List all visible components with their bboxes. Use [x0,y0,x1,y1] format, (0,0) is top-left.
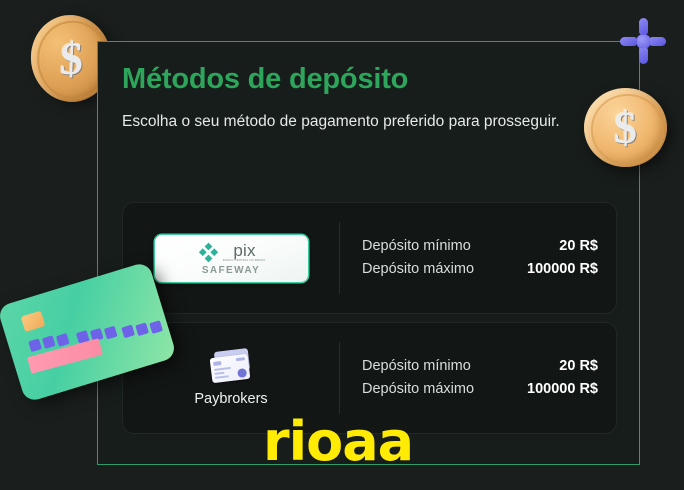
page-subtitle: Escolha o seu método de pagamento prefer… [122,110,572,134]
sparkle-core [637,35,650,48]
pix-safeway-subtitle: SAFEWAY [202,265,260,276]
minimum-deposit-label: Depósito mínimo [362,235,471,258]
card-chip-icon [21,311,46,332]
deposit-methods-list: pix BANCO CENTRAL DO BRASIL SAFEWAY Depó… [122,202,617,442]
maximum-deposit-row: Depósito máximo 100000 R$ [362,378,598,401]
card-chip [213,361,221,366]
maximum-deposit-value: 100000 R$ [527,258,598,281]
pix-safeway-logo[interactable]: pix BANCO CENTRAL DO BRASIL SAFEWAY [155,235,308,282]
page-title: Métodos de depósito [122,64,615,96]
method-limits: Depósito mínimo 20 R$ Depósito máximo 10… [340,355,616,402]
purple-sparkle-icon [619,17,667,65]
sparkle-arm-left [620,37,638,46]
card-digit-block [42,335,56,349]
minimum-deposit-row: Depósito mínimo 20 R$ [362,235,598,258]
sparkle-arm-top [639,18,648,36]
credit-card-icon[interactable] [209,350,253,384]
sparkle-arm-right [648,37,666,46]
minimum-deposit-value: 20 R$ [559,235,598,258]
minimum-deposit-value: 20 R$ [559,355,598,378]
card-front-layer [210,353,251,382]
maximum-deposit-label: Depósito máximo [362,258,474,281]
card-line [214,366,231,370]
maximum-deposit-row: Depósito máximo 100000 R$ [362,258,598,281]
card-number-mark [236,357,245,361]
watermark-text: rioaa [263,415,413,469]
gold-coin-right: $ [584,88,667,167]
method-limits: Depósito mínimo 20 R$ Depósito máximo 10… [340,235,616,282]
pix-wordmark: pix BANCO CENTRAL DO BRASIL [224,242,265,263]
method-logo-cell: pix BANCO CENTRAL DO BRASIL SAFEWAY [123,235,339,282]
card-digit-block [28,338,42,352]
deposit-methods-panel: Métodos de depósito Escolha o seu método… [97,41,640,465]
card-digit-block [135,322,149,336]
maximum-deposit-value: 100000 R$ [527,378,598,401]
maximum-deposit-label: Depósito máximo [362,378,474,401]
card-logo-dot [237,368,247,378]
card-digit-block [149,320,163,334]
method-name-label: Paybrokers [194,391,267,407]
card-digit-block [121,325,135,339]
pix-diamond-icon [197,241,220,264]
minimum-deposit-label: Depósito mínimo [362,355,471,378]
pix-brand-tagline: BANCO CENTRAL DO BRASIL [223,260,266,263]
dollar-sign-icon: $ [59,35,84,82]
minimum-deposit-row: Depósito mínimo 20 R$ [362,355,598,378]
dollar-sign-icon: $ [614,105,637,151]
pix-brand-word: pix [233,242,255,259]
card-line [215,375,229,378]
pix-logo-row: pix BANCO CENTRAL DO BRASIL [197,241,265,264]
card-digit-block [104,326,118,340]
sparkle-arm-bottom [639,46,648,64]
card-line [214,371,224,374]
method-card-pix-safeway[interactable]: pix BANCO CENTRAL DO BRASIL SAFEWAY Depó… [122,202,617,314]
card-digit-block [56,333,70,347]
